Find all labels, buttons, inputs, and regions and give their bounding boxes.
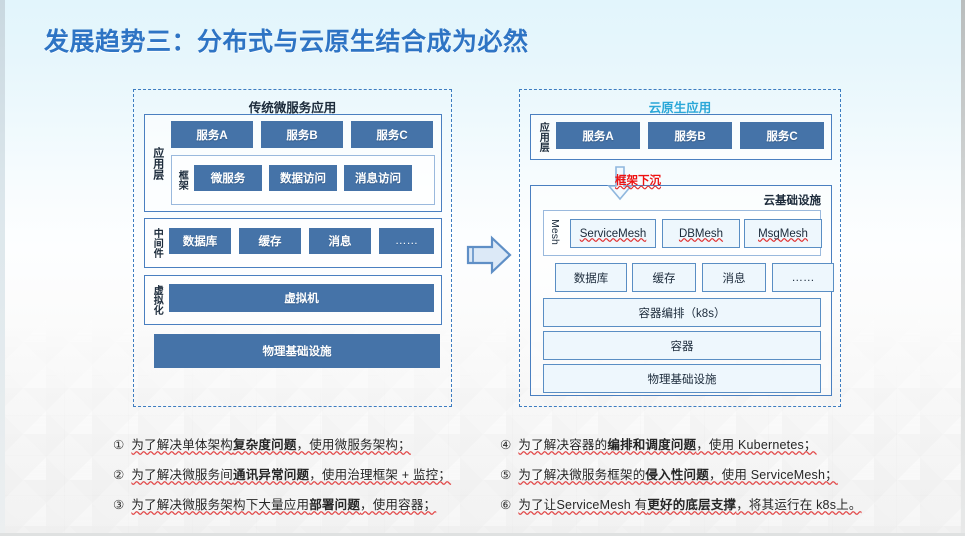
bullet-6-pre: 为了让ServiceMesh 有	[518, 498, 647, 512]
mesh-item-servicemesh[interactable]: ServiceMesh	[570, 219, 656, 248]
bullet-6-key: 更好的底层支撑	[647, 498, 736, 512]
bullet-5-post: ，使用 ServiceMesh；	[709, 468, 838, 482]
bullet-4-key: 编排和调度问题	[607, 438, 696, 452]
mesh-item-msgmesh[interactable]: MsgMesh	[744, 219, 822, 248]
panel-traditional-microservice: 传统微服务应用 应用层 服务A 服务B 服务C 框架 微服务 数据访问 消息访问…	[133, 89, 452, 407]
bullet-item-5: ⑤为了解决微服务框架的侵入性问题，使用 ServiceMesh；	[500, 464, 838, 483]
left-framework-item-data-access[interactable]: 数据访问	[269, 165, 337, 191]
left-service-c[interactable]: 服务C	[351, 121, 433, 148]
container-layer[interactable]: 容器	[543, 331, 821, 360]
page-title: 发展趋势三：分布式与云原生结合成为必然	[44, 22, 529, 58]
right-middleware-item-database[interactable]: 数据库	[555, 263, 627, 292]
bullet-4-post: ，使用 Kubernetes；	[696, 438, 816, 452]
bullet-3-post: ，使用容器；	[360, 498, 436, 512]
right-middleware-item-message[interactable]: 消息	[702, 263, 766, 292]
bullet-list: ①为了解决单体架构复杂度问题，使用微服务架构； ②为了解决微服务间通讯异常问题，…	[0, 425, 965, 530]
bullet-item-3: ③为了解决微服务架构下大量应用部署问题，使用容器；	[113, 494, 436, 513]
left-middleware-item-more[interactable]: ……	[379, 228, 434, 254]
left-middleware-item-cache[interactable]: 缓存	[239, 228, 301, 254]
bullet-3-number: ③	[113, 497, 124, 512]
left-virtualization-group: 虚拟化 虚拟机	[144, 275, 442, 325]
bullet-4-pre: 为了解决容器的	[518, 438, 607, 452]
left-physical-infrastructure[interactable]: 物理基础设施	[154, 334, 440, 368]
right-service-b[interactable]: 服务B	[648, 122, 732, 149]
bullet-2-number: ②	[113, 467, 124, 482]
cloud-infrastructure-group: 云基础设施 Mesh ServiceMesh DBMesh MsgMesh 数据…	[530, 185, 832, 396]
left-framework-label: 框架	[174, 162, 188, 198]
bullet-1-pre: 为了解决单体架构	[131, 438, 233, 452]
left-middleware-group: 中间件 数据库 缓存 消息 ……	[144, 218, 442, 268]
bullet-3-key: 部署问题	[309, 498, 360, 512]
right-middleware-item-cache[interactable]: 缓存	[632, 263, 696, 292]
left-framework-item-message-access[interactable]: 消息访问	[344, 165, 412, 191]
right-arrow-icon	[466, 234, 512, 276]
bullet-1-key: 复杂度问题	[233, 438, 297, 452]
container-orchestration[interactable]: 容器编排（k8s）	[543, 298, 821, 327]
left-virtual-machine[interactable]: 虚拟机	[169, 284, 434, 312]
left-framework-item-microservice[interactable]: 微服务	[194, 165, 262, 191]
bullet-5-number: ⑤	[500, 467, 511, 482]
right-app-layer-label: 应用层	[534, 118, 550, 156]
mesh-group: Mesh ServiceMesh DBMesh MsgMesh	[543, 210, 821, 256]
mesh-label: Mesh	[544, 213, 566, 251]
bullet-5-key: 侵入性问题	[645, 468, 709, 482]
left-app-layer-group: 应用层 服务A 服务B 服务C 框架 微服务 数据访问 消息访问	[144, 114, 442, 212]
right-physical-infrastructure[interactable]: 物理基础设施	[543, 364, 821, 393]
left-middleware-label: 中间件	[148, 223, 164, 263]
bullet-2-key: 通讯异常问题	[233, 468, 309, 482]
mesh-item-dbmesh[interactable]: DBMesh	[662, 219, 740, 248]
bullet-1-number: ①	[113, 437, 124, 452]
left-service-a[interactable]: 服务A	[171, 121, 253, 148]
left-middleware-item-database[interactable]: 数据库	[169, 228, 231, 254]
bullet-item-4: ④为了解决容器的编排和调度问题，使用 Kubernetes；	[500, 434, 817, 453]
bullet-3-pre: 为了解决微服务架构下大量应用	[131, 498, 309, 512]
bullet-1-post: ，使用微服务架构；	[297, 438, 411, 452]
bullet-6-post: ，将其运行在 k8s上。	[736, 498, 861, 512]
right-service-c[interactable]: 服务C	[740, 122, 824, 149]
bullet-6-number: ⑥	[500, 497, 511, 512]
bullet-5-pre: 为了解决微服务框架的	[518, 468, 645, 482]
right-middleware-item-more[interactable]: ……	[772, 263, 834, 292]
right-service-a[interactable]: 服务A	[556, 122, 640, 149]
left-framework-group: 框架 微服务 数据访问 消息访问	[171, 155, 435, 205]
bullet-2-post: ，使用治理框架 + 监控；	[309, 468, 451, 482]
bullet-4-number: ④	[500, 437, 511, 452]
left-virtualization-label: 虚拟化	[148, 280, 164, 320]
panel-cloud-native: 云原生应用 应用层 服务A 服务B 服务C 云基础设施 Mesh Service…	[519, 89, 841, 407]
bullet-item-1: ①为了解决单体架构复杂度问题，使用微服务架构；	[113, 434, 411, 453]
left-service-b[interactable]: 服务B	[261, 121, 343, 148]
left-middleware-item-message[interactable]: 消息	[309, 228, 371, 254]
bullet-item-2: ②为了解决微服务间通讯异常问题，使用治理框架 + 监控；	[113, 464, 451, 483]
left-app-layer-label: 应用层	[148, 129, 166, 197]
bullet-item-6: ⑥为了让ServiceMesh 有更好的底层支撑，将其运行在 k8s上。	[500, 494, 862, 513]
slide-root: 发展趋势三：分布式与云原生结合成为必然 传统微服务应用 应用层 服务A 服务B …	[0, 0, 965, 536]
cloud-infrastructure-label: 云基础设施	[764, 192, 822, 208]
right-app-layer-group: 应用层 服务A 服务B 服务C	[530, 114, 832, 160]
bullet-2-pre: 为了解决微服务间	[131, 468, 233, 482]
framework-sink-label: 框架下沉	[615, 172, 661, 188]
